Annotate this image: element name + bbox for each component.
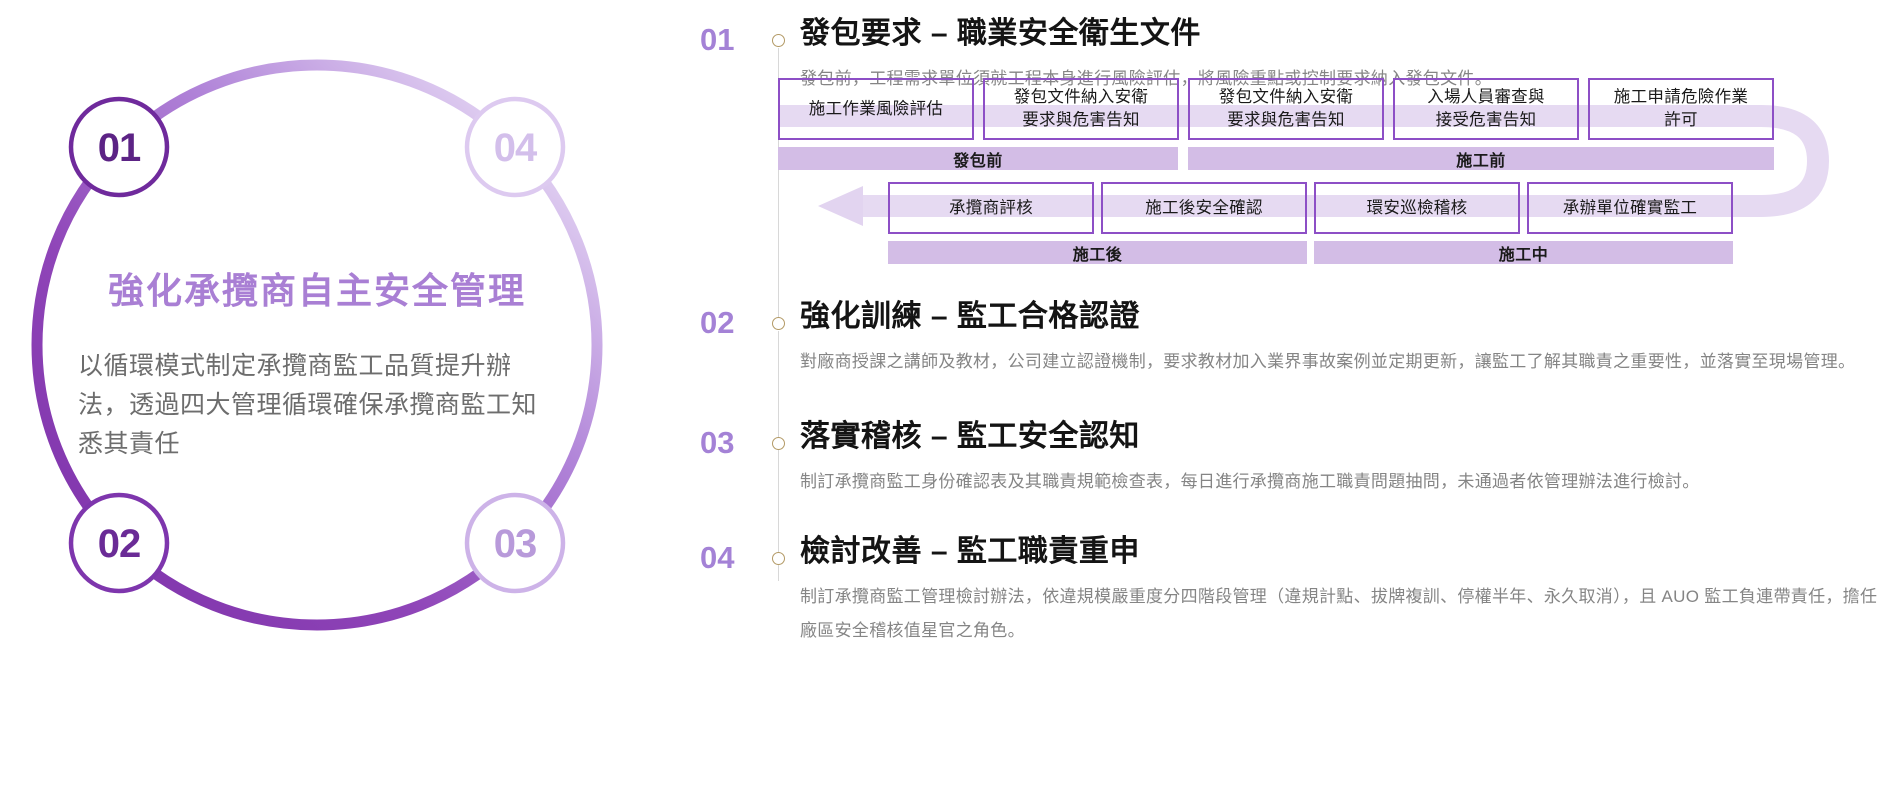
section-02-description: 對廠商授課之講師及教材，公司建立認證機制，要求教材加入業界事故案例並定期更新，讓… (800, 345, 1880, 379)
flow-box-r2-4: 承辦單位確實監工 (1527, 182, 1733, 234)
section-04-description: 制訂承攬商監工管理檢討辦法，依違規模嚴重度分四階段管理（違規計點、拔牌複訓、停權… (800, 580, 1880, 648)
flow-diagram: 施工作業風險評估 發包文件納入安衛 要求與危害告知 發包文件納入安衛 要求與危害… (658, 60, 1868, 255)
cycle-diagram: 01 04 02 03 強化承攬商自主安全管理 以循環模式制定承攬商監工品質提升… (0, 0, 700, 799)
section-04-body: 檢討改善 – 監工職責重申 制訂承攬商監工管理檢討辦法，依違規模嚴重度分四階段管… (800, 532, 1880, 648)
section-04-bullet-icon (772, 552, 785, 565)
flow-box-r1-1-label: 施工作業風險評估 (809, 98, 943, 121)
flow-box-r1-4: 入場人員審查與 接受危害告知 (1393, 78, 1579, 140)
flow-box-r2-2-label: 施工後安全確認 (1145, 197, 1263, 220)
flow-band-pre-construction: 施工前 (1188, 147, 1774, 170)
section-03-number: 03 (700, 425, 762, 461)
cycle-center-content: 強化承攬商自主安全管理 以循環模式制定承攬商監工品質提升辦法，透過四大管理循環確… (72, 268, 562, 463)
section-03-description: 制訂承攬商監工身份確認表及其職責規範檢查表，每日進行承攬商施工職責問題抽問，未通… (800, 465, 1880, 499)
section-02-body: 強化訓練 – 監工合格認證 對廠商授課之講師及教材，公司建立認證機制，要求教材加… (800, 297, 1880, 379)
flow-band-pre-tender-label: 發包前 (953, 147, 1003, 171)
cycle-node-01-label: 01 (98, 126, 141, 170)
section-01-bullet-icon (772, 34, 785, 47)
flow-box-r2-3-label: 環安巡檢稽核 (1367, 197, 1468, 220)
section-02-number: 02 (700, 305, 762, 341)
section-01-number: 01 (700, 22, 762, 58)
flow-box-r2-4-label: 承辦單位確實監工 (1563, 197, 1697, 220)
flow-box-r1-3-label: 發包文件納入安衛 要求與危害告知 (1219, 86, 1353, 132)
flow-box-r2-1-label: 承攬商評核 (949, 197, 1033, 220)
cycle-node-02-label: 02 (98, 522, 141, 566)
section-03-title: 落實稽核 – 監工安全認知 (800, 417, 1880, 456)
section-02-bullet-icon (772, 317, 785, 330)
flow-band-post-construction-label: 施工後 (1073, 241, 1123, 265)
flow-box-r2-1: 承攬商評核 (888, 182, 1094, 234)
flow-box-r1-4-label: 入場人員審查與 接受危害告知 (1427, 86, 1545, 132)
flow-band-pre-construction-label: 施工前 (1456, 147, 1506, 171)
section-02-title: 強化訓練 – 監工合格認證 (800, 297, 1880, 336)
section-01-title: 發包要求 – 職業安全衛生文件 (800, 14, 1880, 53)
flow-box-r2-2: 施工後安全確認 (1101, 182, 1307, 234)
flow-box-r2-3: 環安巡檢稽核 (1314, 182, 1520, 234)
section-04-title: 檢討改善 – 監工職責重申 (800, 532, 1880, 571)
cycle-node-03-label: 03 (494, 522, 537, 566)
flow-box-r1-5: 施工申請危險作業 許可 (1588, 78, 1774, 140)
section-03-body: 落實稽核 – 監工安全認知 制訂承攬商監工身份確認表及其職責規範檢查表，每日進行… (800, 417, 1880, 499)
flow-box-r1-3: 發包文件納入安衛 要求與危害告知 (1188, 78, 1384, 140)
flow-band-during-construction-label: 施工中 (1499, 241, 1549, 265)
flow-box-r1-5-label: 施工申請危險作業 許可 (1614, 86, 1748, 132)
cycle-title: 強化承攬商自主安全管理 (72, 268, 562, 313)
section-04-number: 04 (700, 540, 762, 576)
sections-panel: 01 發包要求 – 職業安全衛生文件 發包前，工程需求單位須就工程本身進行風險評… (700, 0, 1891, 799)
flow-band-post-construction: 施工後 (888, 241, 1307, 264)
cycle-node-04-label: 04 (494, 126, 538, 170)
flow-arrow-left-icon (818, 186, 863, 226)
flow-box-r1-2: 發包文件納入安衛 要求與危害告知 (983, 78, 1179, 140)
slide-canvas: 01 04 02 03 強化承攬商自主安全管理 以循環模式制定承攬商監工品質提升… (0, 0, 1891, 799)
cycle-description: 以循環模式制定承攬商監工品質提升辦法，透過四大管理循環確保承攬商監工知悉其責任 (72, 347, 562, 463)
flow-box-r1-2-label: 發包文件納入安衛 要求與危害告知 (1014, 86, 1148, 132)
section-03-bullet-icon (772, 437, 785, 450)
flow-box-r1-1: 施工作業風險評估 (778, 78, 974, 140)
flow-band-during-construction: 施工中 (1314, 241, 1733, 264)
flow-band-pre-tender: 發包前 (778, 147, 1178, 170)
